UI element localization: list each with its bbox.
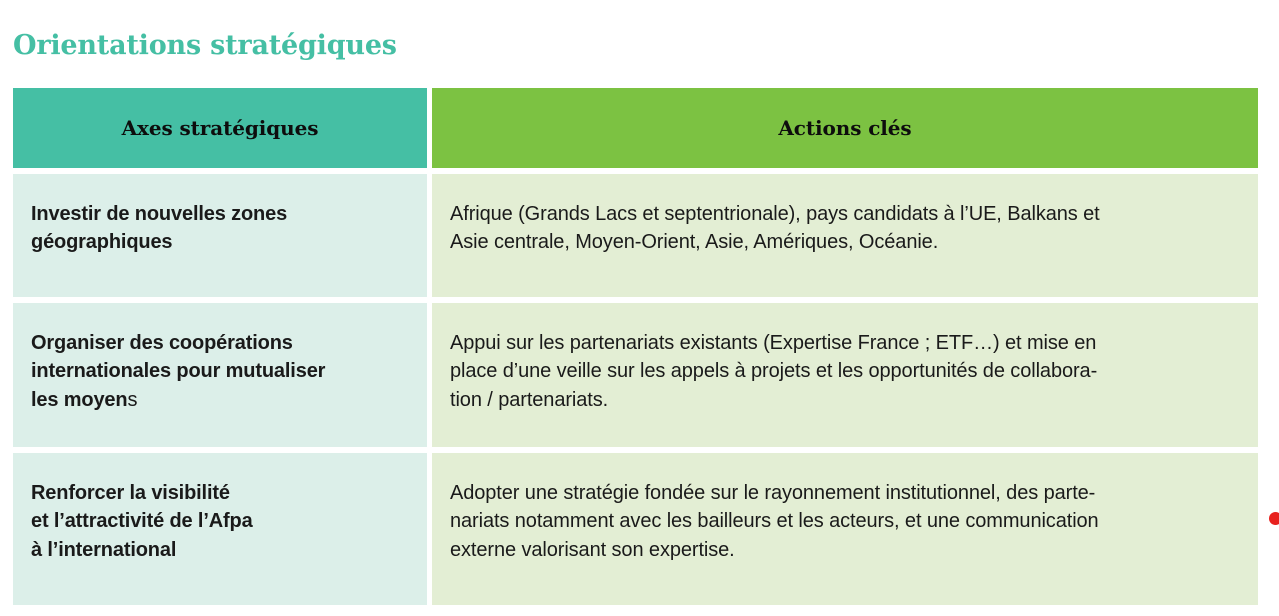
cell-axis-1: Investir de nouvelles zones géographique… [13, 174, 427, 297]
cell-axis-2: Organiser des coopérations international… [13, 303, 427, 447]
action-line: nariats notamment avec les bailleurs et … [450, 507, 1240, 535]
cell-action-1: Afrique (Grands Lacs et septentrionale),… [432, 174, 1258, 297]
action-line: Asie centrale, Moyen-Orient, Asie, Améri… [450, 228, 1240, 256]
axis-line: Organiser des coopérations [31, 329, 409, 357]
strategy-table: Axes stratégiques Actions clés Investir … [13, 88, 1258, 611]
cell-axis-3: Renforcer la visibilité et l’attractivit… [13, 453, 427, 605]
cell-action-3: Adopter une stratégie fondée sur le rayo… [432, 453, 1258, 605]
action-line: Afrique (Grands Lacs et septentrionale),… [450, 200, 1240, 228]
table-row: Organiser des coopérations international… [13, 303, 1258, 447]
page-title: Orientations stratégiques [13, 30, 397, 61]
action-line: tion / partenariats. [450, 386, 1240, 414]
axis-line: géographiques [31, 228, 409, 256]
action-line: Adopter une stratégie fondée sur le rayo… [450, 479, 1240, 507]
axis-line: Investir de nouvelles zones [31, 200, 409, 228]
column-header-actions: Actions clés [432, 88, 1258, 168]
axis-line: à l’international [31, 536, 409, 564]
axis-line: et l’attractivité de l’Afpa [31, 507, 409, 535]
table-row: Investir de nouvelles zones géographique… [13, 174, 1258, 297]
action-line: place d’une veille sur les appels à proj… [450, 357, 1240, 385]
column-header-axes: Axes stratégiques [13, 88, 427, 168]
action-line: Appui sur les partenariats existants (Ex… [450, 329, 1240, 357]
axis-line-main: les moyen [31, 389, 127, 411]
table-row: Renforcer la visibilité et l’attractivit… [13, 453, 1258, 605]
axis-line-tail: s [127, 389, 137, 411]
action-line: externe valorisant son expertise. [450, 536, 1240, 564]
axis-line: Renforcer la visibilité [31, 479, 409, 507]
table-header-row: Axes stratégiques Actions clés [13, 88, 1258, 168]
axis-line: internationales pour mutualiser [31, 357, 409, 385]
cell-action-2: Appui sur les partenariats existants (Ex… [432, 303, 1258, 447]
axis-line: les moyens [31, 386, 409, 414]
red-bullet-marker-icon [1269, 512, 1279, 525]
